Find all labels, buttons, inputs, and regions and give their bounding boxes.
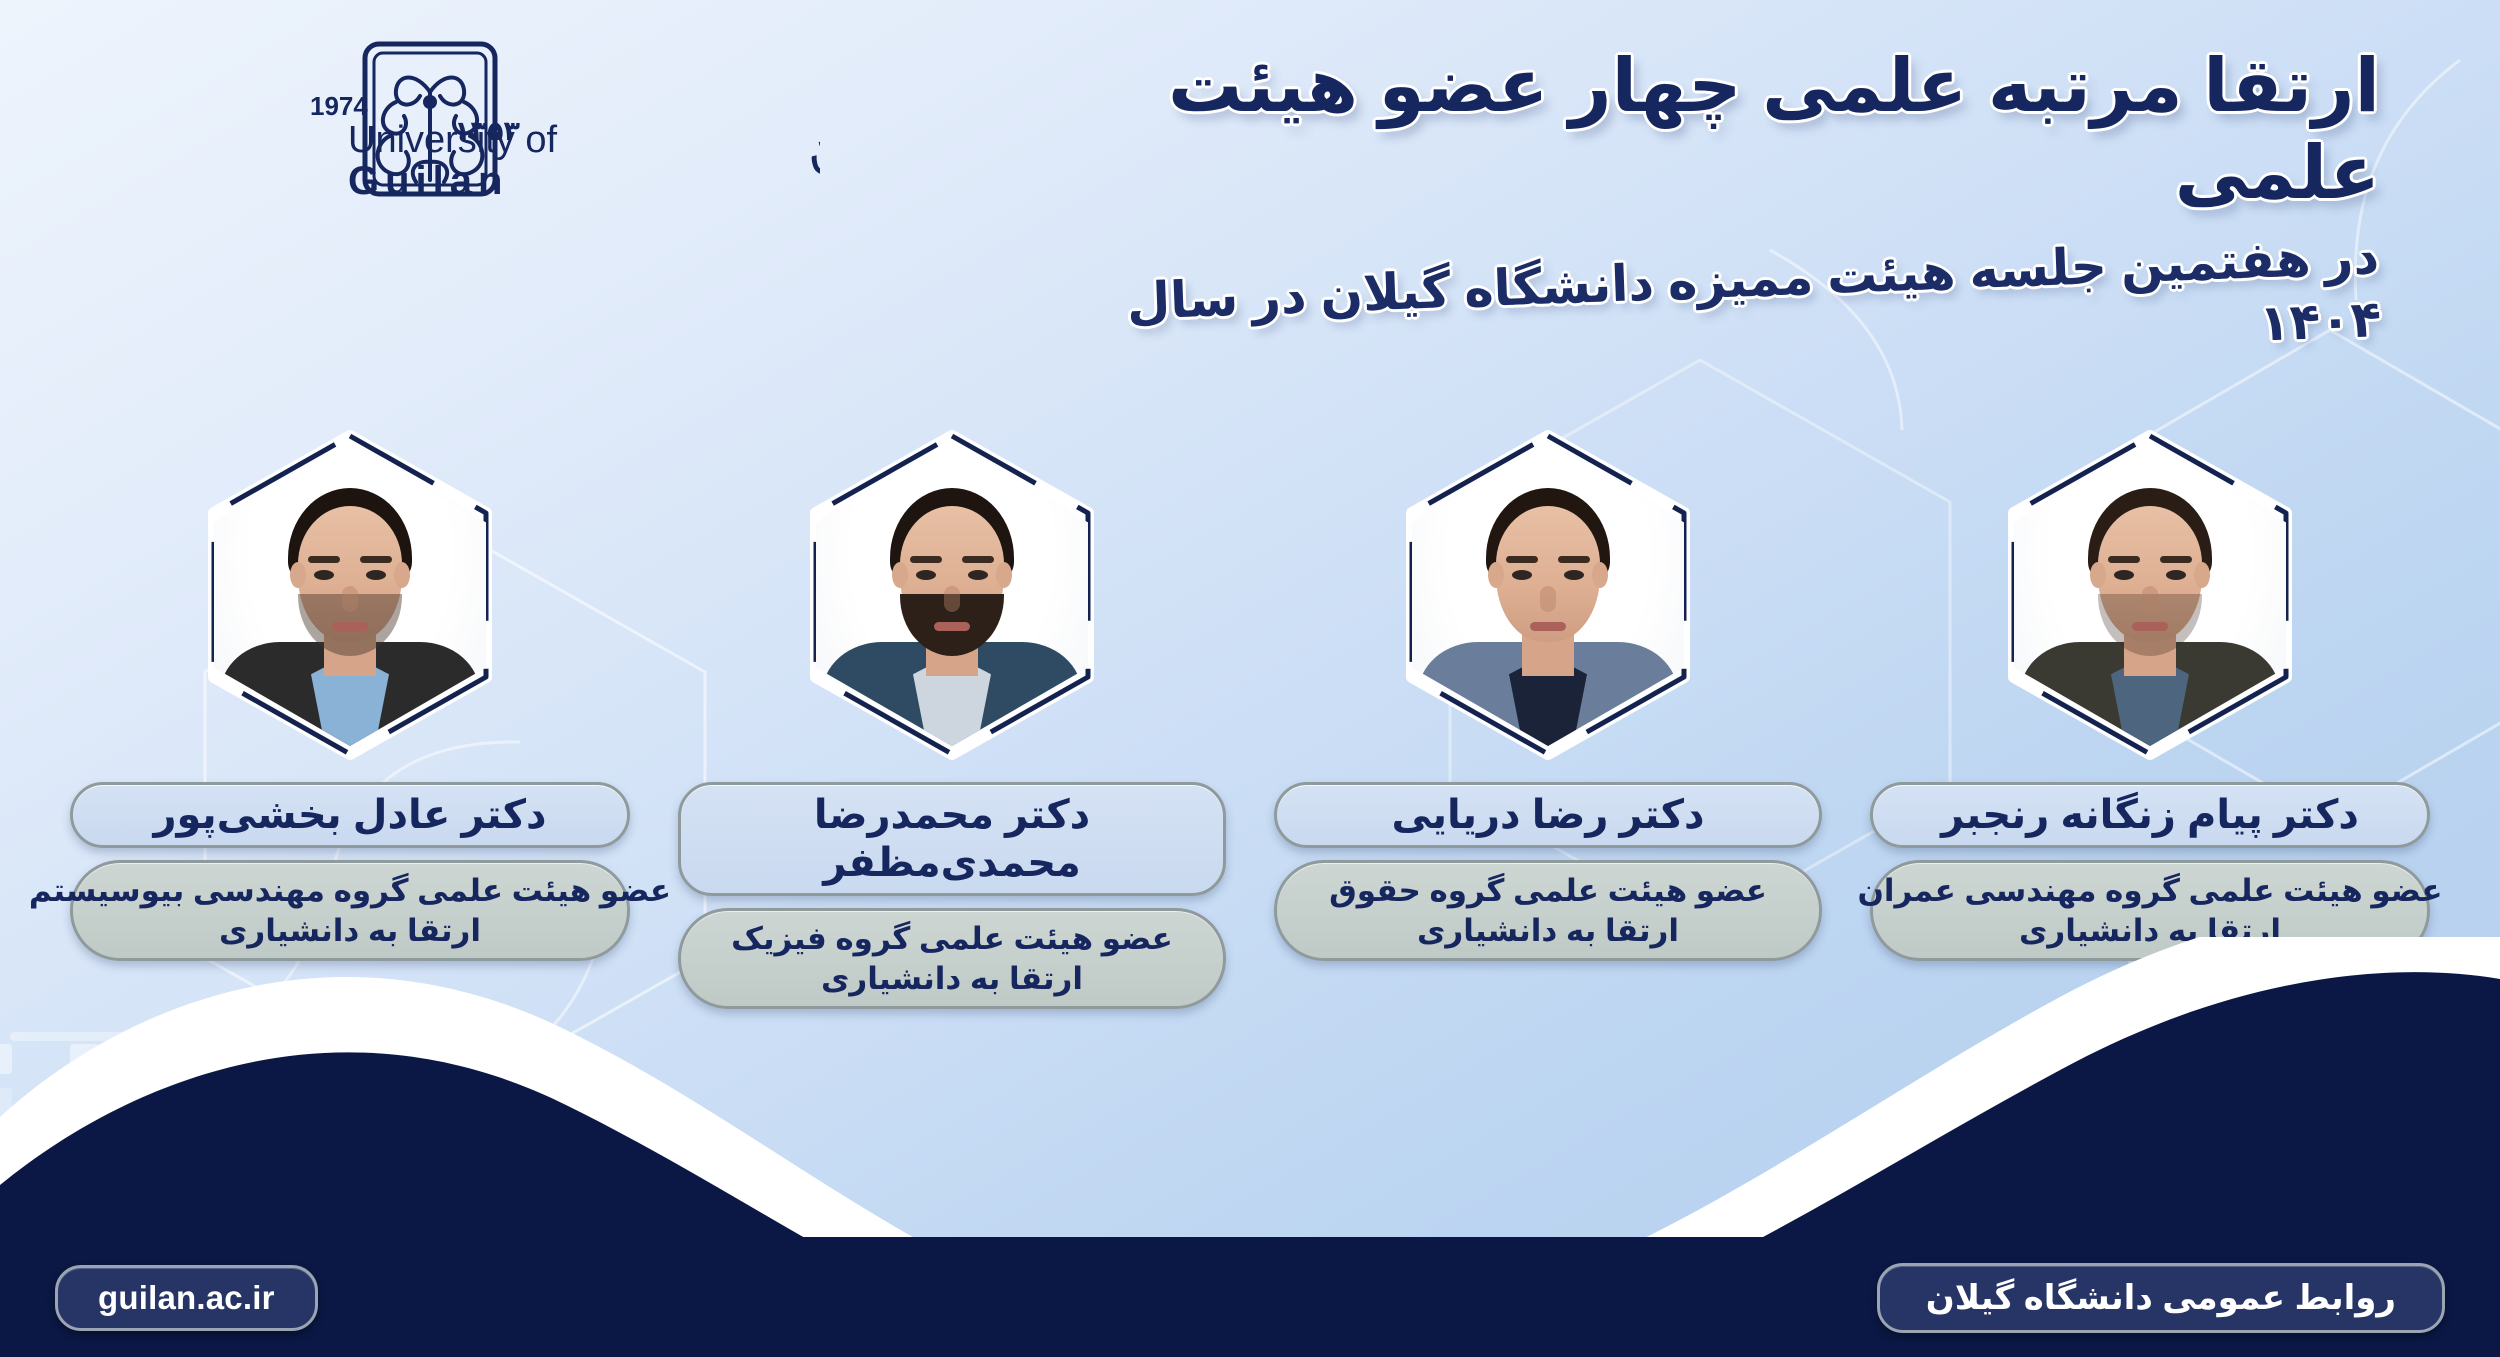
logo-svg: 1974 University of Guilan ۱۳۵۳ دانشگاه گ… — [120, 30, 820, 200]
person-role-line1: عضو هیئت علمی گروه حقوق — [1329, 871, 1767, 911]
page-subtitle: در هفتمین جلسه هیئت ممیزه دانشگاه گیلان … — [1019, 225, 2383, 400]
hexagon-photo-frame — [200, 430, 500, 760]
logo-year-latin: 1974 — [310, 91, 368, 121]
person-card: دکتر محمدرضا محمدی‌مظفر عضو هیئت علمی گر… — [678, 430, 1226, 1009]
person-role-line1: عضو هیئت علمی گروه مهندسی عمران — [1857, 871, 2442, 911]
logo-persian-name: دانشگاه گیلان — [798, 47, 820, 183]
footer-bar: روابط عمومی دانشگاه گیلان guilan.ac.ir — [0, 1239, 2500, 1357]
hexagon-photo-frame — [1398, 430, 1698, 760]
person-name: دکتر پیام زنگانه رنجبر — [1870, 782, 2430, 848]
people-row: دکتر پیام زنگانه رنجبر عضو هیئت علمی گرو… — [0, 430, 2500, 1009]
poster-root: 1974 University of Guilan ۱۳۵۳ دانشگاه گ… — [0, 0, 2500, 1357]
logo-latin-line2: Guilan — [348, 159, 508, 200]
logo-latin-line1: University of — [348, 119, 557, 161]
person-card: دکتر پیام زنگانه رنجبر عضو هیئت علمی گرو… — [1870, 430, 2430, 961]
page-title: ارتقا مرتبه علمی چهار عضو هیئت علمی — [1020, 42, 2380, 217]
title-block: ارتقا مرتبه علمی چهار عضو هیئت علمی در ه… — [1020, 42, 2380, 350]
person-name: دکتر رضا دریایی — [1274, 782, 1822, 848]
hexagon-photo-frame — [2000, 430, 2300, 760]
person-card: دکتر رضا دریایی عضو هیئت علمی گروه حقوق … — [1274, 430, 1822, 961]
person-name: دکتر عادل بخشی‌پور — [70, 782, 630, 848]
university-logo: 1974 University of Guilan ۱۳۵۳ دانشگاه گ… — [120, 30, 820, 200]
person-name: دکتر محمدرضا محمدی‌مظفر — [678, 782, 1226, 896]
person-card: دکتر عادل بخشی‌پور عضو هیئت علمی گروه مه… — [70, 430, 630, 961]
person-role-line1: عضو هیئت علمی گروه مهندسی بیوسیستم — [29, 871, 671, 911]
website-link[interactable]: guilan.ac.ir — [55, 1265, 318, 1331]
public-relations-badge: روابط عمومی دانشگاه گیلان — [1877, 1263, 2445, 1333]
logo-year-persian: ۱۳۵۳ — [454, 116, 520, 147]
hexagon-photo-frame — [802, 430, 1102, 760]
